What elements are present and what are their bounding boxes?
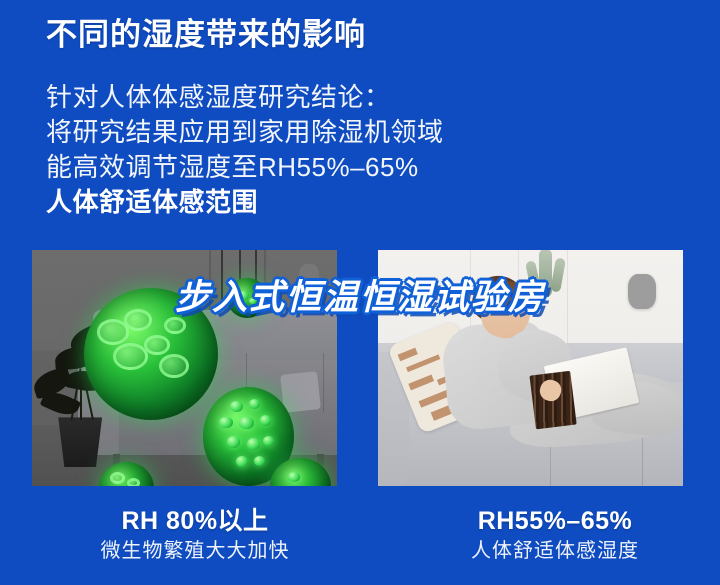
intro-paragraph: 针对人体体感湿度研究结论： 将研究结果应用到家用除湿机领域 能高效调节湿度至RH… — [46, 80, 516, 220]
caption-comfort-humidity: RH55%–65% 人体舒适体感湿度 — [405, 505, 705, 565]
intro-line-3: 能高效调节湿度至RH55%–65% — [46, 150, 516, 185]
poster-root: 不同的湿度带来的影响 针对人体体感湿度研究结论： 将研究结果应用到家用除湿机领域… — [0, 0, 720, 585]
caption-main-right: RH55%–65% — [405, 505, 705, 537]
page-title: 不同的湿度带来的影响 — [46, 16, 366, 55]
overlay-banner-title: 步入式恒温恒湿试验房 — [0, 269, 720, 320]
intro-line-4: 人体舒适体感范围 — [46, 185, 516, 220]
intro-line-1: 针对人体体感湿度研究结论： — [46, 80, 516, 115]
caption-sub-left: 微生物繁殖大大加快 — [45, 537, 345, 565]
caption-high-humidity: RH 80%以上 微生物繁殖大大加快 — [45, 505, 345, 565]
caption-main-left: RH 80%以上 — [45, 505, 345, 537]
caption-sub-right: 人体舒适体感湿度 — [405, 537, 705, 565]
intro-line-2: 将研究结果应用到家用除湿机领域 — [46, 115, 516, 150]
